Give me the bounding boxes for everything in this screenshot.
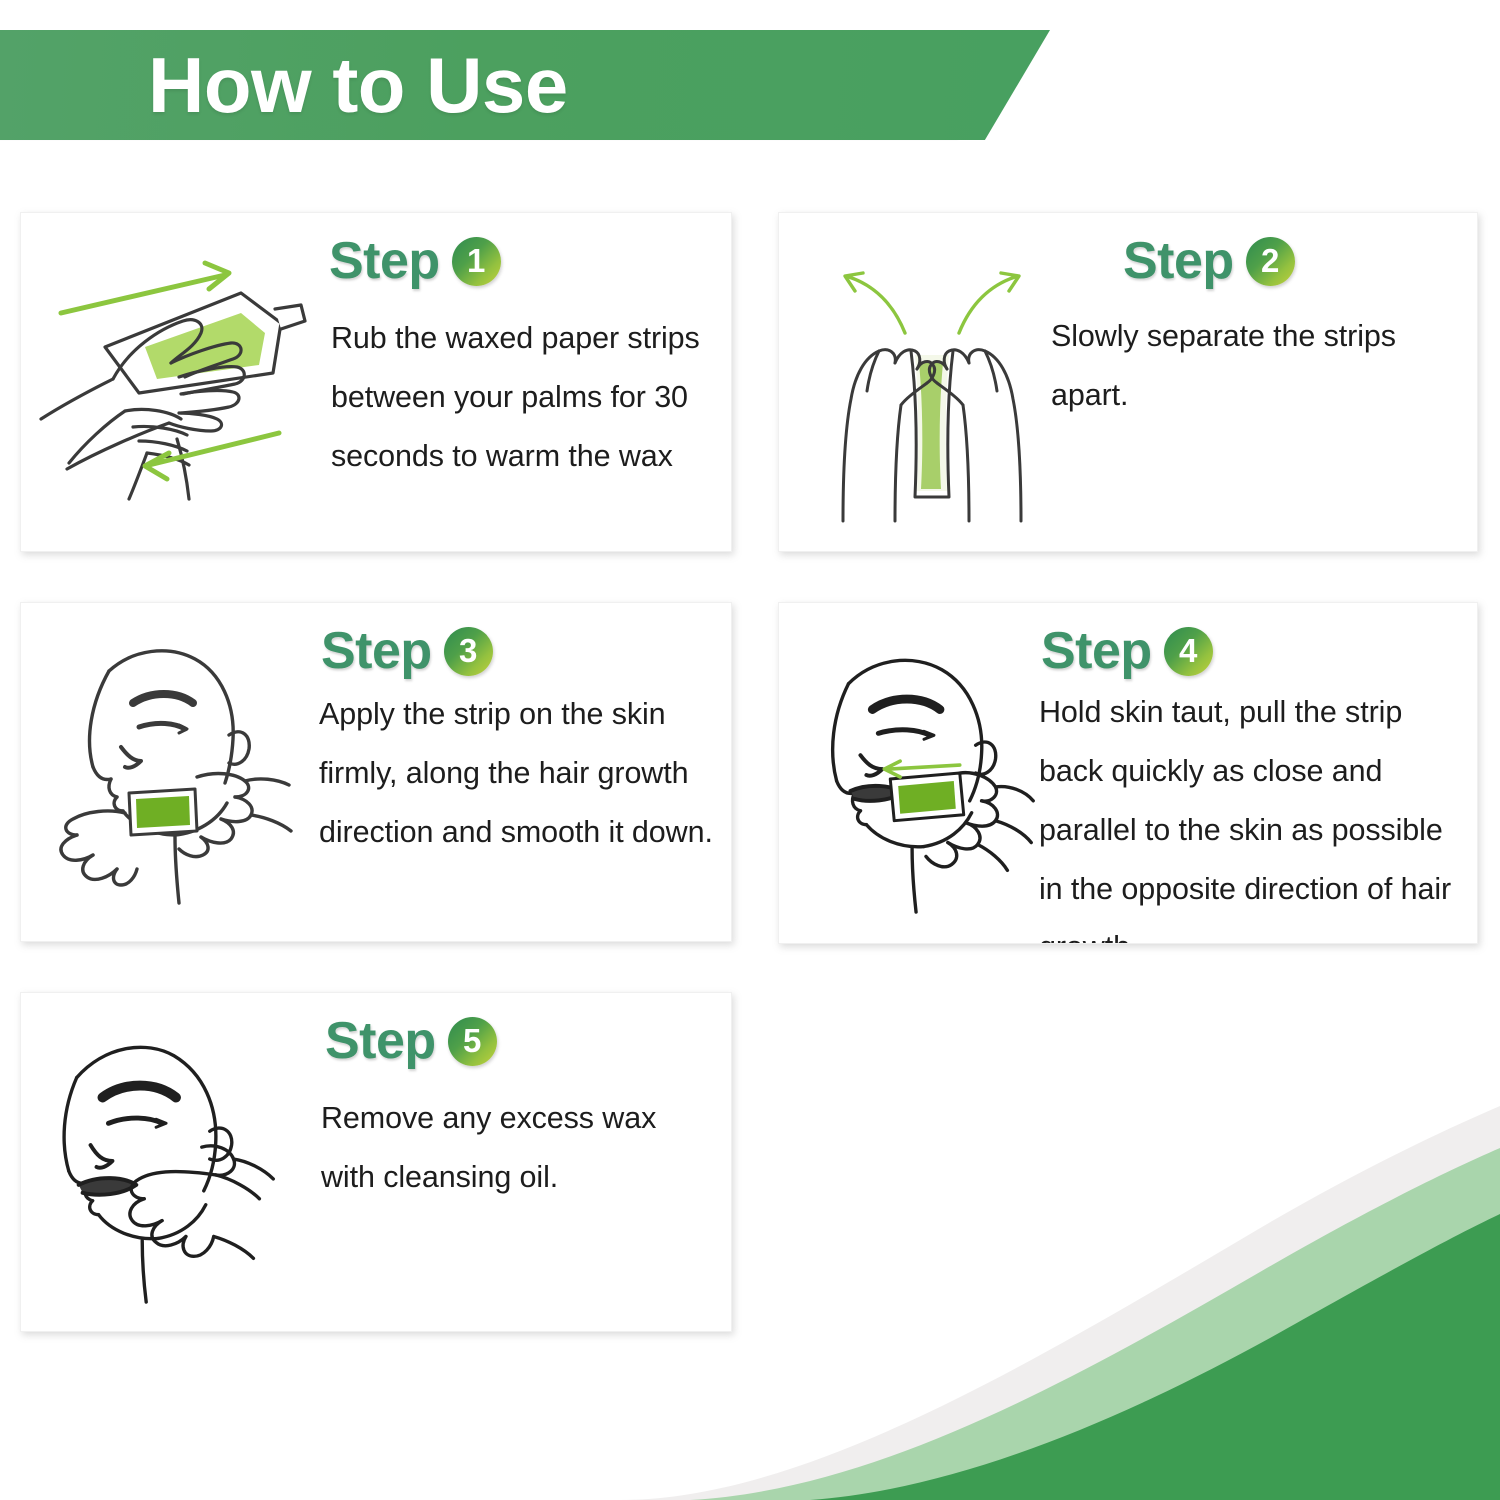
- step-card-2: Step 2 Slowly separate the strips apart.: [778, 212, 1478, 552]
- step-5-body: Remove any excess wax with cleansing oil…: [317, 1089, 709, 1207]
- step-card-1: Step 1 Rub the waxed paper strips betwee…: [20, 212, 732, 552]
- face-wiping-excess-wax-icon: [33, 1019, 313, 1309]
- step-4-label: Step: [1041, 625, 1152, 677]
- wave-band-gray: [620, 1106, 1500, 1500]
- step-2-text-column: Step 2 Slowly separate the strips apart.: [1045, 235, 1465, 425]
- step-card-3: Step 3 Apply the strip on the skin firml…: [20, 602, 732, 942]
- step-5-text-column: Step 5 Remove any excess wax with cleans…: [317, 1015, 727, 1207]
- hands-rubbing-wax-strip-icon: [29, 237, 311, 527]
- step-1-number: 1: [452, 237, 501, 286]
- decorative-corner-waves: [620, 1070, 1500, 1500]
- step-3-heading: Step 3: [317, 625, 732, 677]
- face-applying-strip-icon: [29, 627, 311, 917]
- step-5-number-badge: 5: [448, 1017, 497, 1066]
- step3-illustration-svg: [29, 627, 311, 917]
- step1-illustration-svg: [29, 237, 311, 527]
- step-3-body: Apply the strip on the skin firmly, alon…: [317, 685, 729, 862]
- step2-illustration-svg: [807, 259, 1057, 529]
- step-5-label: Step: [325, 1015, 436, 1067]
- step-4-body: Hold skin taut, pull the strip back quic…: [1037, 683, 1461, 944]
- step4-illustration-svg: [785, 633, 1065, 923]
- step-2-number: 2: [1246, 237, 1295, 286]
- step-1-text-column: Step 1 Rub the waxed paper strips betwee…: [321, 235, 721, 486]
- face-pulling-strip-icon: [785, 633, 1065, 923]
- step-2-number-badge: 2: [1246, 237, 1295, 286]
- step-4-text-column: Step 4 Hold skin taut, pull the strip ba…: [1037, 625, 1465, 944]
- step-1-heading: Step 1: [321, 235, 721, 287]
- step-3-label: Step: [321, 625, 432, 677]
- step5-illustration-svg: [33, 1019, 313, 1309]
- step-3-number-badge: 3: [444, 627, 493, 676]
- step-card-5: Step 5 Remove any excess wax with cleans…: [20, 992, 732, 1332]
- how-to-use-infographic: How to Use: [0, 0, 1500, 1500]
- step-1-body: Rub the waxed paper strips between your …: [321, 309, 721, 486]
- page-title: How to Use: [148, 46, 568, 124]
- step-2-label: Step: [1123, 235, 1234, 287]
- step-2-heading: Step 2: [1045, 235, 1465, 287]
- step-3-number: 3: [444, 627, 493, 676]
- step-card-4: Step 4 Hold skin taut, pull the strip ba…: [778, 602, 1478, 944]
- step-1-number-badge: 1: [452, 237, 501, 286]
- step-1-label: Step: [329, 235, 440, 287]
- step-5-heading: Step 5: [317, 1015, 727, 1067]
- step-2-body: Slowly separate the strips apart.: [1045, 307, 1435, 425]
- step-5-number: 5: [448, 1017, 497, 1066]
- header-banner: How to Use: [0, 30, 1050, 140]
- step-4-heading: Step 4: [1037, 625, 1465, 677]
- hands-separating-strips-icon: [807, 259, 1057, 529]
- corner-waves-svg: [620, 1070, 1500, 1500]
- step-3-text-column: Step 3 Apply the strip on the skin firml…: [317, 625, 732, 862]
- wave-band-green: [810, 1214, 1500, 1500]
- step-4-number-badge: 4: [1164, 627, 1213, 676]
- wave-band-pale-green: [690, 1148, 1500, 1500]
- step-4-number: 4: [1164, 627, 1213, 676]
